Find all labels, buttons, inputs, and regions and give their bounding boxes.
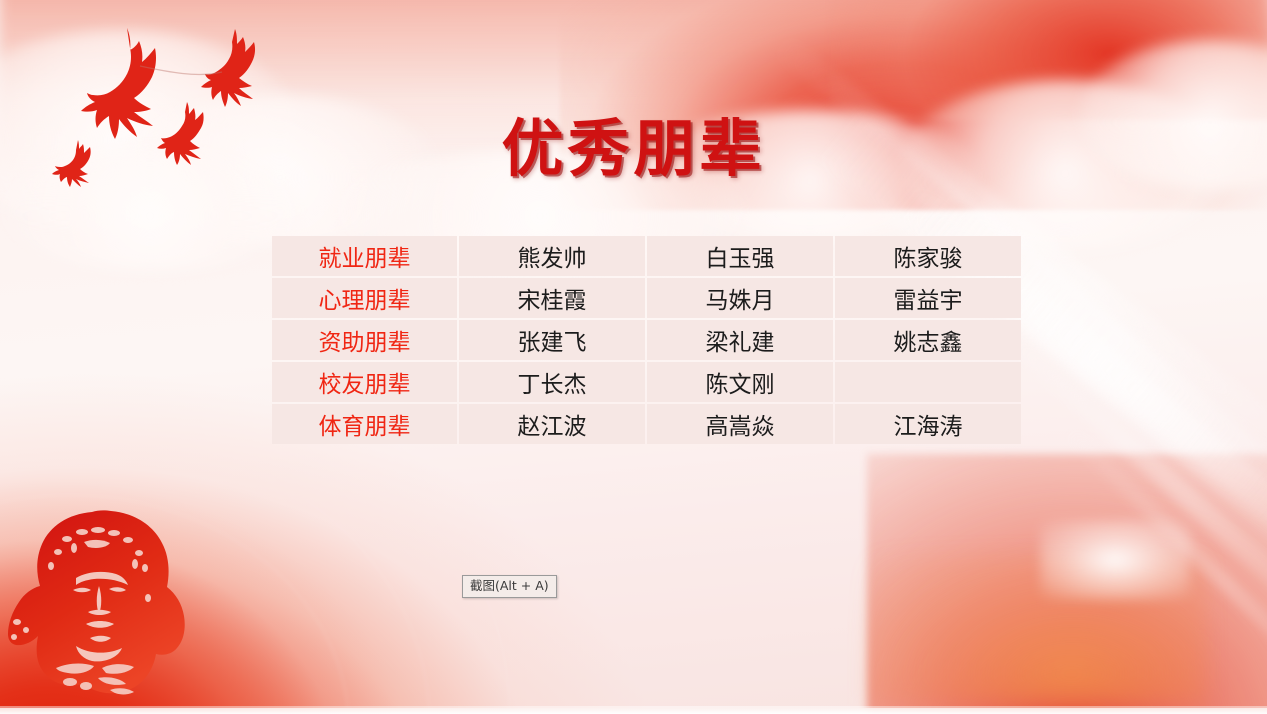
row-category-label: 心理朋辈 <box>272 278 457 318</box>
peer-name-cell: 丁长杰 <box>459 362 645 402</box>
peer-name-cell: 陈家骏 <box>835 236 1021 276</box>
peer-name-cell: 高嵩焱 <box>647 404 833 444</box>
peer-name-cell: 张建飞 <box>459 320 645 360</box>
row-category-label: 就业朋辈 <box>272 236 457 276</box>
slide-bottom-edge <box>0 708 1267 714</box>
outstanding-peers-table: 就业朋辈 熊发帅 白玉强 陈家骏 心理朋辈 宋桂霞 马姝月 雷益宇 资助朋辈 张… <box>270 234 1023 446</box>
peer-name-cell: 江海涛 <box>835 404 1021 444</box>
row-category-label: 校友朋辈 <box>272 362 457 402</box>
peer-name-cell: 熊发帅 <box>459 236 645 276</box>
peer-name-cell-empty <box>835 362 1021 402</box>
table-row: 资助朋辈 张建飞 梁礼建 姚志鑫 <box>272 320 1021 360</box>
peer-name-cell: 雷益宇 <box>835 278 1021 318</box>
table-row: 就业朋辈 熊发帅 白玉强 陈家骏 <box>272 236 1021 276</box>
peer-name-cell: 马姝月 <box>647 278 833 318</box>
light-beam-hotspot <box>1040 520 1190 600</box>
peer-table-container: 就业朋辈 熊发帅 白玉强 陈家骏 心理朋辈 宋桂霞 马姝月 雷益宇 资助朋辈 张… <box>270 234 1014 446</box>
table-row: 心理朋辈 宋桂霞 马姝月 雷益宇 <box>272 278 1021 318</box>
peer-name-cell: 赵江波 <box>459 404 645 444</box>
presentation-slide: 优秀朋辈 就业朋辈 熊发帅 白玉强 陈家骏 心理朋辈 宋桂霞 马姝月 雷益宇 资… <box>0 0 1267 714</box>
peer-name-cell: 姚志鑫 <box>835 320 1021 360</box>
table-row: 体育朋辈 赵江波 高嵩焱 江海涛 <box>272 404 1021 444</box>
peer-name-cell: 陈文刚 <box>647 362 833 402</box>
page-title: 优秀朋辈 <box>0 116 1267 181</box>
peer-name-cell: 白玉强 <box>647 236 833 276</box>
row-category-label: 资助朋辈 <box>272 320 457 360</box>
row-category-label: 体育朋辈 <box>272 404 457 444</box>
table-row: 校友朋辈 丁长杰 陈文刚 <box>272 362 1021 402</box>
screenshot-tooltip: 截图(Alt + A) <box>462 575 557 598</box>
peer-name-cell: 宋桂霞 <box>459 278 645 318</box>
peer-name-cell: 梁礼建 <box>647 320 833 360</box>
